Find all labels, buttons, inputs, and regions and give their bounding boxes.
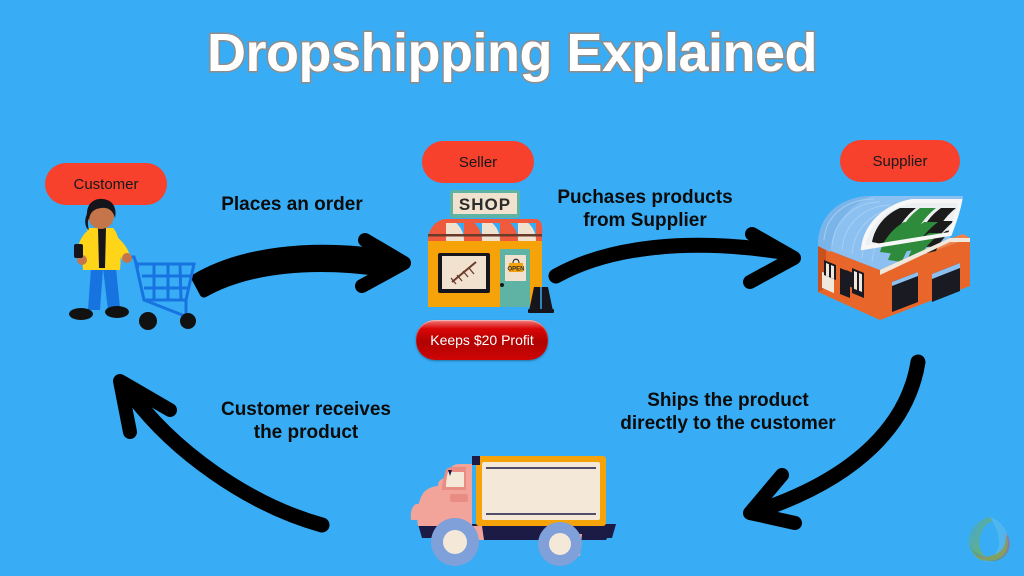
ribbon-swirl-logo <box>960 512 1016 568</box>
profit-badge: Keeps $20 Profit <box>416 320 548 360</box>
node-label-seller: Seller <box>422 141 534 183</box>
arrow-supplier-to-delivery <box>750 362 918 523</box>
customer-shopping-cart-illustration <box>58 190 208 335</box>
delivery-truck-illustration <box>398 442 633 572</box>
step-caption-purchases-products: Puchases products from Supplier <box>540 186 750 232</box>
step-caption-ships-the-product: Ships the product directly to the custom… <box>608 389 848 435</box>
arrow-seller-to-supplier <box>556 234 794 282</box>
node-label-seller-text: Seller <box>459 154 497 171</box>
infographic-canvas: Dropshipping Explained <box>0 0 1024 576</box>
node-label-supplier-text: Supplier <box>872 153 927 170</box>
node-label-supplier: Supplier <box>840 140 960 182</box>
svg-text:OPEN: OPEN <box>507 267 524 273</box>
step-caption-customer-receives: Customer receives the product <box>208 398 404 444</box>
warehouse-illustration <box>800 190 995 325</box>
arrow-customer-to-seller <box>196 240 404 293</box>
shop-storefront-illustration: SHOP OPEN <box>414 183 556 323</box>
svg-text:SHOP: SHOP <box>459 195 511 214</box>
profit-badge-text: Keeps $20 Profit <box>430 332 534 348</box>
step-caption-places-an-order: Places an order <box>196 193 388 216</box>
